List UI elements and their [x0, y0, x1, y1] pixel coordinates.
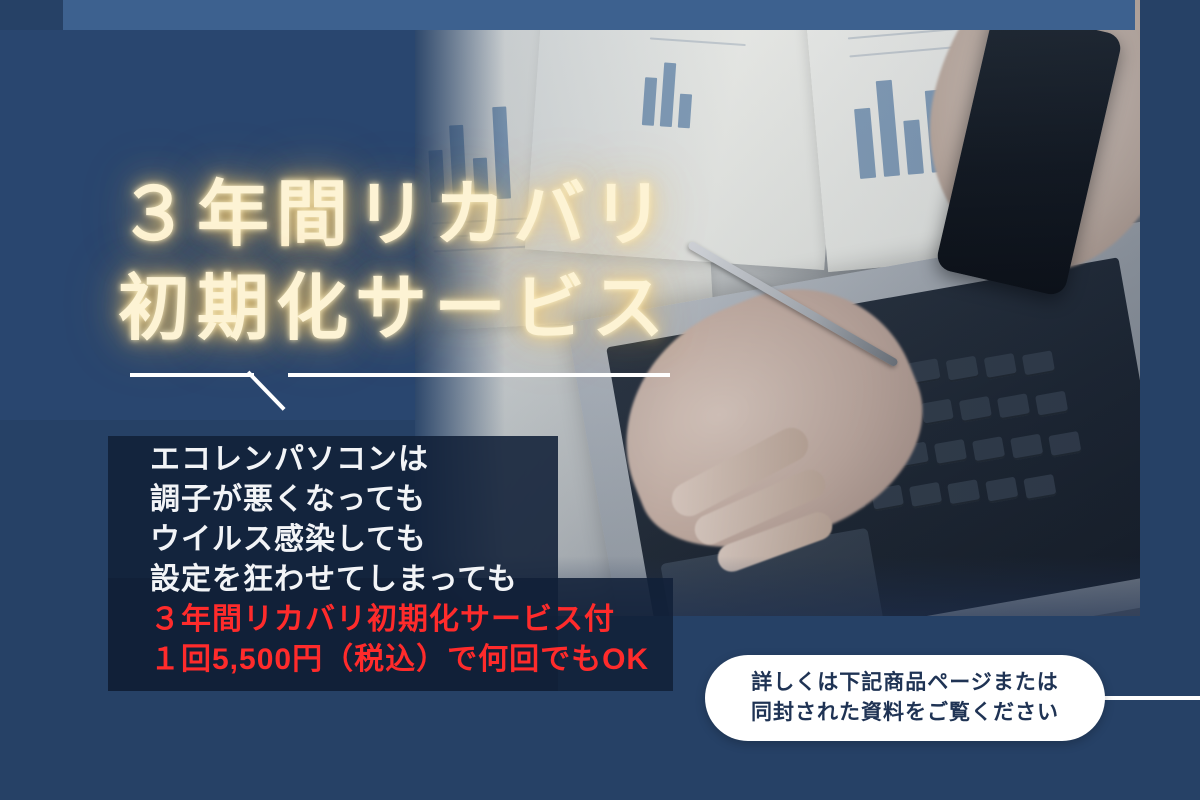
- message-text: エコレンパソコンは 調子が悪くなっても ウイルス感染しても 設定を狂わせてしまっ…: [150, 440, 649, 680]
- top-accent-bar: [63, 0, 1135, 30]
- message-line-6: １回5,500円（税込）で何回でもOK: [150, 640, 649, 680]
- message-line-4: 設定を狂わせてしまっても: [150, 560, 649, 600]
- message-line-3: ウイルス感染しても: [150, 520, 649, 560]
- callout-pill[interactable]: 詳しくは下記商品ページまたは 同封された資料をご覧ください: [705, 655, 1105, 741]
- headline: ３年間リカバリ 初期化サービス: [118, 168, 671, 356]
- headline-line-2: 初期化サービス: [118, 262, 671, 356]
- message-line-1: エコレンパソコンは: [150, 440, 649, 480]
- callout-text: 詳しくは下記商品ページまたは 同封された資料をご覧ください: [751, 668, 1059, 728]
- message-line-2: 調子が悪くなっても: [150, 480, 649, 520]
- callout-line-1: 詳しくは下記商品ページまたは: [751, 668, 1059, 698]
- headline-line-1: ３年間リカバリ: [118, 168, 671, 262]
- callout-tail-line: [1090, 696, 1200, 700]
- promo-banner: ３年間リカバリ 初期化サービス エコレンパソコンは 調子が悪くなっても ウイルス…: [0, 0, 1200, 800]
- message-line-5: ３年間リカバリ初期化サービス付: [150, 600, 649, 640]
- callout-line-2: 同封された資料をご覧ください: [751, 698, 1059, 728]
